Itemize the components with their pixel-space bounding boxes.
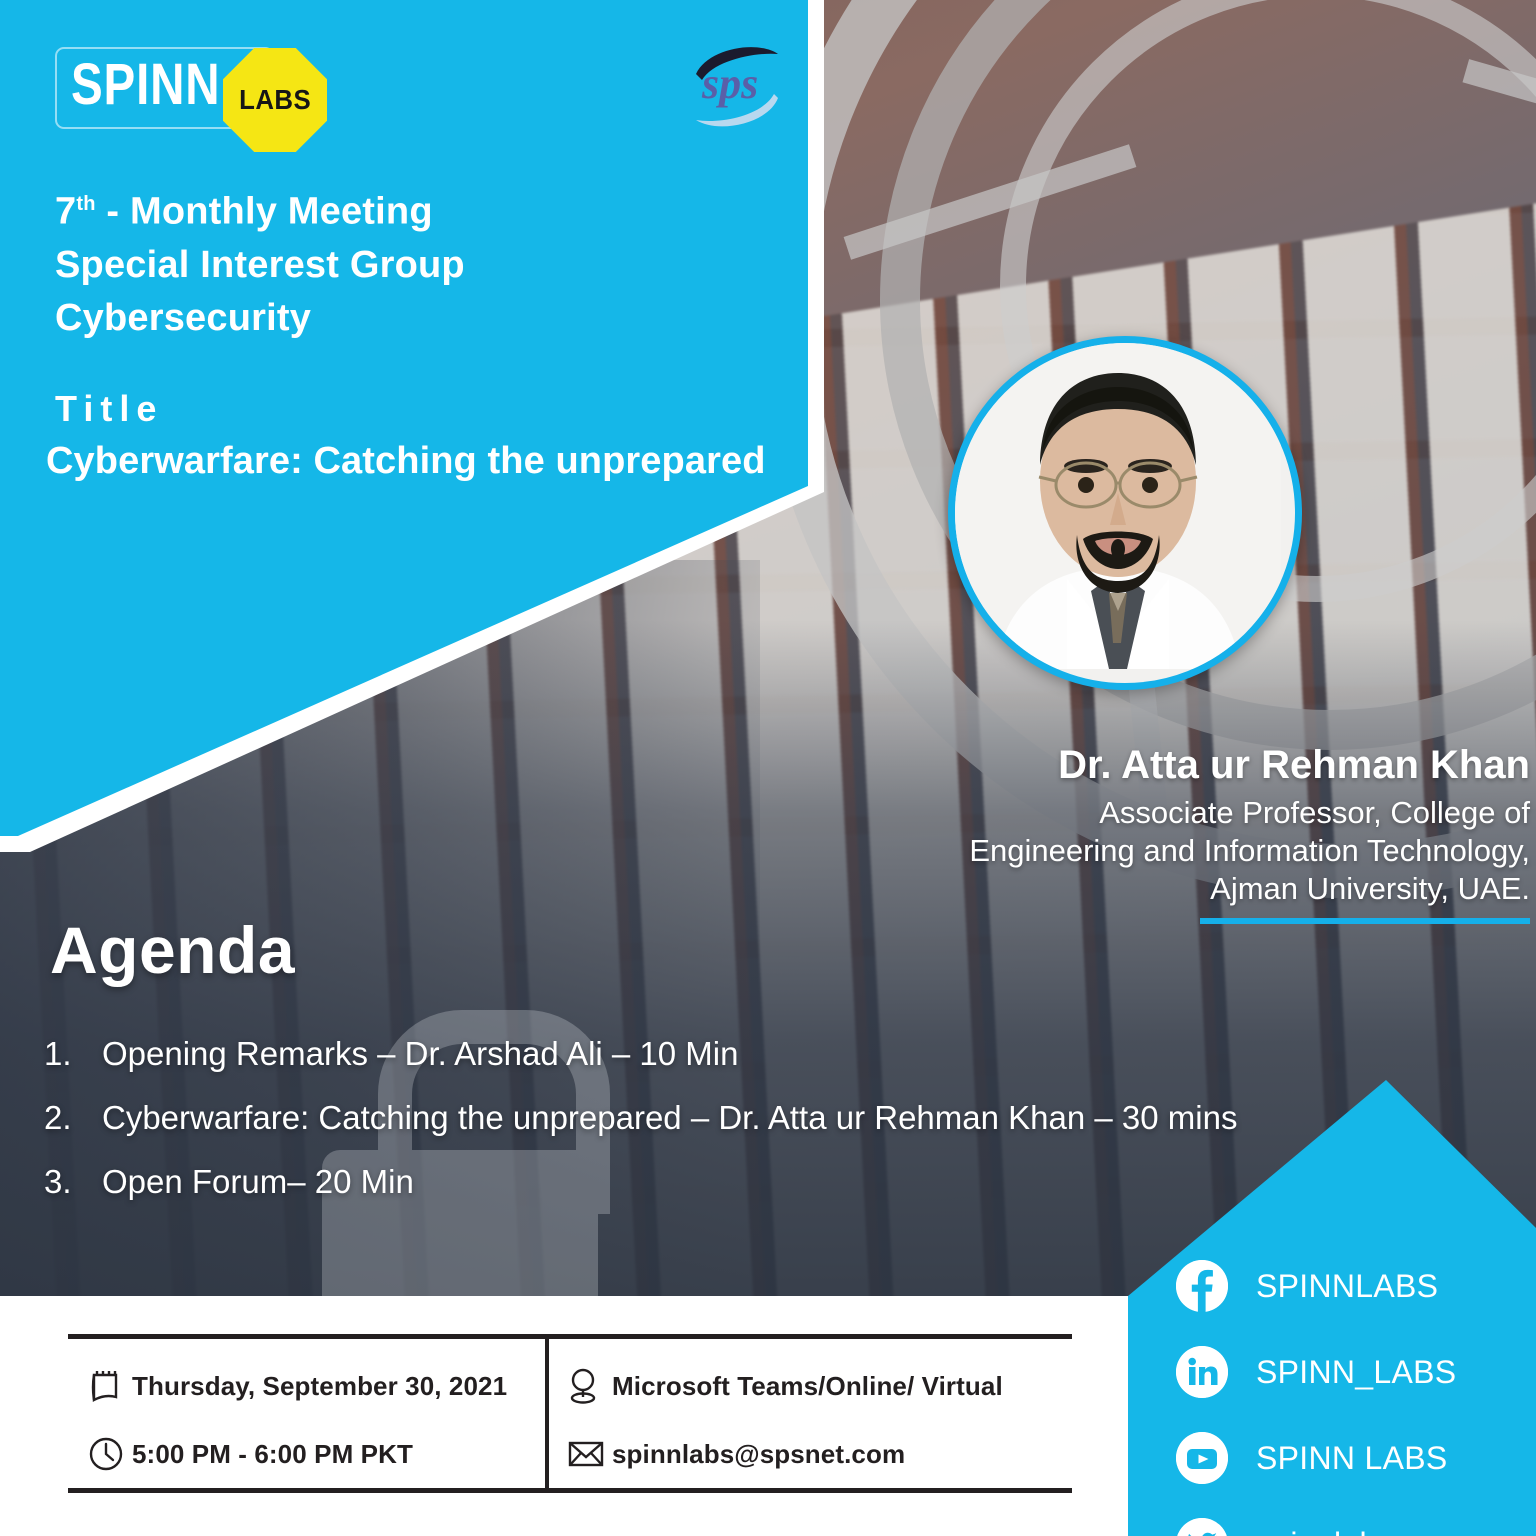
speaker-portrait [955,343,1281,669]
social-link-linkedin[interactable]: SPINN_LABS [1176,1336,1536,1408]
location-pin-icon [568,1367,612,1405]
event-date: Thursday, September 30, 2021 [132,1371,507,1402]
social-handle: SPINN_LABS [1256,1354,1456,1391]
speaker-info: Dr. Atta ur Rehman Khan Associate Profes… [930,740,1530,924]
agenda-item: 2. Cyberwarfare: Catching the unprepared… [44,1086,1244,1150]
sps-wordmark: sps [701,59,758,108]
clock-icon [88,1436,132,1472]
agenda-item-text: Opening Remarks – Dr. Arshad Ali – 10 Mi… [102,1022,1244,1086]
social-handle: SPINNLABS [1256,1268,1438,1305]
title-label: Title [55,388,163,430]
sps-logo[interactable]: sps [682,32,792,142]
speaker-underline [1200,918,1530,924]
event-poster: SPINN LABS sps 7th - Monthly Meeting Spe… [0,0,1536,1536]
event-heading: 7th - Monthly Meeting Special Interest G… [55,178,785,345]
sps-logo-graphic: sps [682,32,792,142]
agenda-item-number: 2. [44,1086,102,1150]
logo-badge-label: LABS [239,84,311,116]
social-link-facebook[interactable]: SPINNLABS [1176,1250,1536,1322]
footer-time-row: 5:00 PM - 6:00 PM PKT [88,1426,528,1482]
footer-date-row: Thursday, September 30, 2021 [88,1358,528,1414]
heading-line-2: Special Interest Group [55,239,785,292]
linkedin-icon [1176,1346,1228,1398]
agenda-heading: Agenda [50,912,295,988]
agenda-item: 1. Opening Remarks – Dr. Arshad Ali – 10… [44,1022,1244,1086]
agenda-item-number: 1. [44,1022,102,1086]
speaker-name: Dr. Atta ur Rehman Khan [930,740,1530,790]
twitter-icon [1176,1518,1228,1536]
logo-octagon-badge: LABS [223,48,327,152]
social-link-youtube[interactable]: SPINN LABS [1176,1422,1536,1494]
social-handle: spinnlabs [1256,1526,1394,1536]
calendar-icon [88,1368,132,1404]
footer-vertical-divider [545,1334,549,1493]
contact-email[interactable]: spinnlabs@spsnet.com [612,1439,905,1470]
footer-top-rule [68,1334,1072,1339]
agenda-item-number: 3. [44,1150,102,1214]
agenda-item-text: Open Forum– 20 Min [102,1150,1244,1214]
logo-wordmark: SPINN [71,56,220,114]
heading-line-3: Cybersecurity [55,292,785,345]
talk-title: Cyberwarfare: Catching the unprepared [46,440,766,483]
meeting-number: 7 [55,191,76,233]
social-handle: SPINN LABS [1256,1440,1448,1477]
speaker-avatar [948,336,1302,690]
spinn-labs-logo[interactable]: SPINN LABS [55,42,327,132]
heading-line-1: 7th - Monthly Meeting [55,178,785,239]
youtube-icon [1176,1432,1228,1484]
social-link-twitter[interactable]: spinnlabs [1176,1508,1536,1536]
agenda-item-text: Cyberwarfare: Catching the unprepared – … [102,1086,1244,1150]
facebook-icon [1176,1260,1228,1312]
speaker-affiliation: Associate Professor, College of Engineer… [930,794,1530,908]
agenda-item: 3. Open Forum– 20 Min [44,1150,1244,1214]
event-time: 5:00 PM - 6:00 PM PKT [132,1439,413,1470]
footer-email-row[interactable]: spinnlabs@spsnet.com [568,1426,1068,1482]
meeting-label: - Monthly Meeting [96,191,433,233]
envelope-icon [568,1440,612,1468]
meeting-number-suffix: th [76,193,95,215]
event-platform: Microsoft Teams/Online/ Virtual [612,1371,1003,1402]
social-list: SPINNLABS SPINN_LABS [1176,1250,1536,1536]
agenda-list: 1. Opening Remarks – Dr. Arshad Ali – 10… [44,1022,1244,1214]
footer-platform-row: Microsoft Teams/Online/ Virtual [568,1358,1068,1414]
footer-where-column: Microsoft Teams/Online/ Virtual spinnlab… [568,1358,1068,1494]
footer-when-column: Thursday, September 30, 2021 5:00 PM - 6… [88,1358,528,1494]
